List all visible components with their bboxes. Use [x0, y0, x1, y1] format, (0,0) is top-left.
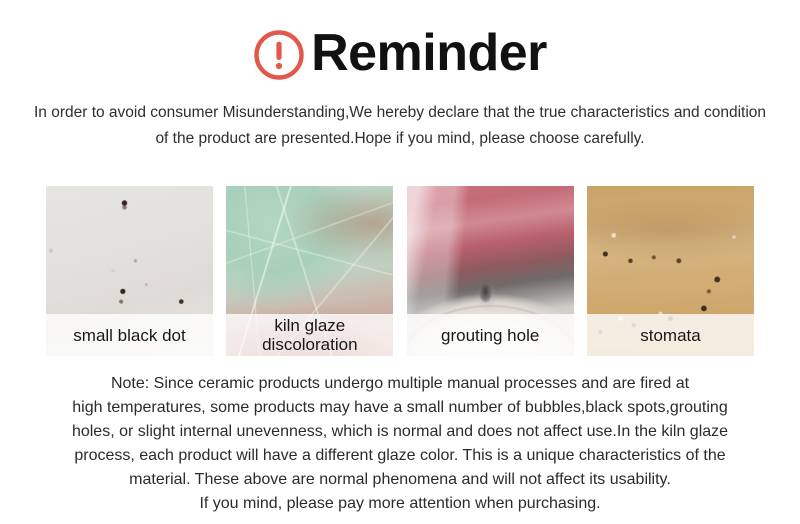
- defect-card-caption: stomata: [587, 314, 754, 356]
- subtitle-line-2: of the product are presented.Hope if you…: [27, 126, 773, 152]
- page-title: Reminder: [311, 27, 547, 79]
- note-line-2: high temperatures, some products may hav…: [34, 396, 766, 420]
- defect-card-caption: small black dot: [46, 314, 213, 356]
- note-paragraph: Note: Since ceramic products undergo mul…: [34, 372, 766, 516]
- page-header: Reminder: [0, 0, 800, 92]
- defect-card-caption: kiln glaze discoloration: [226, 314, 393, 356]
- defect-card-stomata: stomata: [587, 186, 754, 356]
- defect-card-small-black-dot: small black dot: [46, 186, 213, 356]
- note-line-4: process, each product will have a differ…: [34, 444, 766, 468]
- note-line-5: material. These above are normal phenome…: [34, 468, 766, 492]
- defect-card-grouting-hole: grouting hole: [407, 186, 574, 356]
- exclamation-circle-icon: [253, 29, 305, 81]
- defect-card-grid: small black dot kiln glaze discoloration…: [46, 186, 754, 356]
- subtitle-text: In order to avoid consumer Misunderstand…: [27, 100, 773, 152]
- note-line-1: Note: Since ceramic products undergo mul…: [34, 372, 766, 396]
- defect-card-kiln-glaze-discoloration: kiln glaze discoloration: [226, 186, 393, 356]
- defect-card-caption: grouting hole: [407, 314, 574, 356]
- note-line-3: holes, or slight internal unevenness, wh…: [34, 420, 766, 444]
- subtitle-line-1: In order to avoid consumer Misunderstand…: [27, 100, 773, 126]
- note-line-6: If you mind, please pay more attention w…: [34, 492, 766, 516]
